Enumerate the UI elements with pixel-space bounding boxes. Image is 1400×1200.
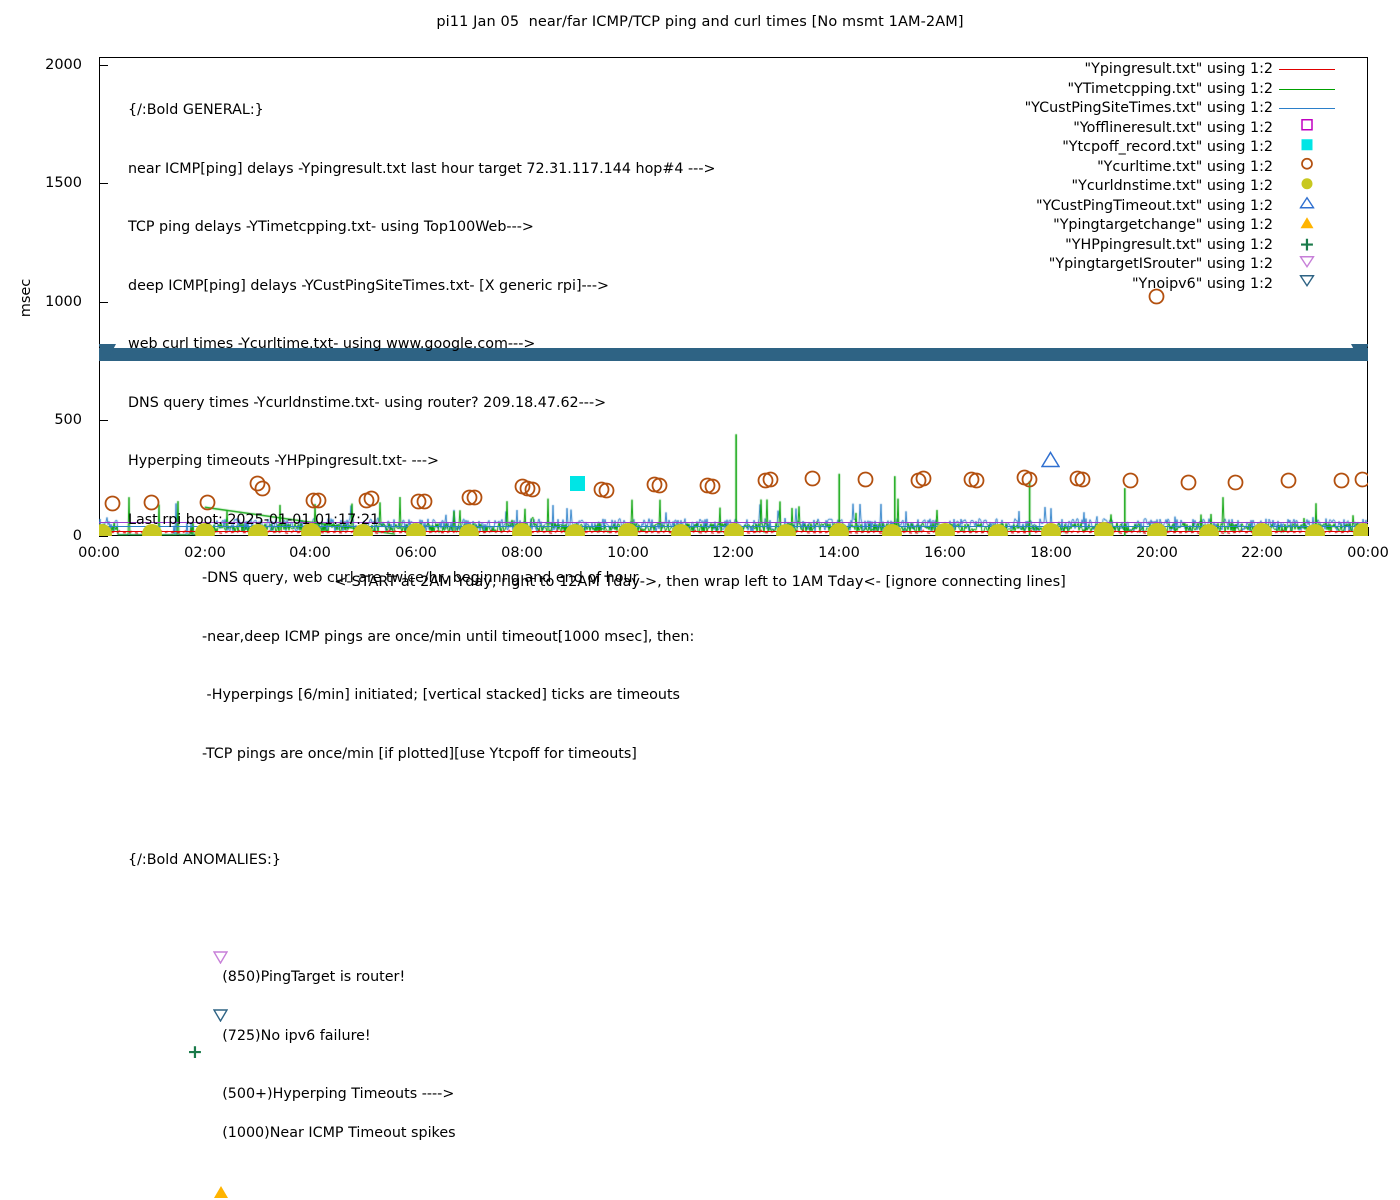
anomalies-header: {/:Bold ANOMALIES:} — [128, 851, 715, 871]
curl-time-point — [104, 495, 121, 516]
dns-time-point — [1198, 523, 1220, 536]
legend-row: "Yofflineresult.txt" using 1:2 — [985, 119, 1335, 139]
legend-row: "Ypingtargetchange" using 1:2 — [985, 216, 1335, 236]
legend-key-icon — [1279, 216, 1335, 236]
anomaly-row: (550)Ping Target Changes ---> — [128, 1163, 715, 1183]
legend-label: "Ycurltime.txt" using 1:2 — [1097, 158, 1273, 178]
legend-key-icon — [1279, 177, 1335, 197]
legend-label: "Ytcpoff_record.txt" using 1:2 — [1062, 138, 1273, 158]
dns-time-point — [775, 523, 797, 536]
curl-time-point — [1122, 472, 1139, 493]
curl-time-point — [1333, 472, 1350, 493]
curl-time-point — [762, 471, 779, 492]
dns-time-point — [1146, 522, 1168, 536]
legend-key-icon — [1279, 119, 1335, 139]
triangle-down-open-teal-icon — [186, 990, 201, 1005]
legend-key-icon — [1279, 275, 1335, 295]
legend-row: "YCustPingTimeout.txt" using 1:2 — [985, 197, 1335, 217]
legend-row: "YTimetcpping.txt" using 1:2 — [985, 80, 1335, 100]
anomaly-label: (1000)Near ICMP Timeout spikes — [222, 1125, 455, 1141]
legend-key-icon — [1279, 255, 1335, 275]
general-note: -DNS query, web curl are twice/hr, begin… — [128, 569, 715, 589]
general-note: -TCP pings are once/min [if plotted][use… — [128, 745, 715, 765]
curl-time-point — [915, 470, 932, 491]
y-tick-mark — [99, 536, 108, 537]
general-line: DNS query times -Ycurldnstime.txt- using… — [128, 394, 715, 414]
legend: "Ypingresult.txt" using 1:2"YTimetcpping… — [985, 60, 1335, 294]
dns-time-point — [881, 523, 903, 536]
general-header: {/:Bold GENERAL:} — [128, 101, 715, 121]
dns-time-point — [1251, 522, 1273, 536]
dns-time-point — [934, 522, 956, 536]
x-tick-label: 00:00 — [59, 545, 139, 561]
general-note: -Hyperpings [6/min] initiated; [vertical… — [128, 686, 715, 706]
anomaly-label: (500+)Hyperping Timeouts ----> — [222, 1086, 454, 1102]
legend-row: "Ycurldnstime.txt" using 1:2 — [985, 177, 1335, 197]
x-tick-label: 16:00 — [905, 545, 985, 561]
legend-key-icon — [1279, 138, 1335, 158]
curl-time-point — [1227, 474, 1244, 495]
legend-key-icon: + — [1279, 236, 1335, 256]
legend-key-icon — [1279, 60, 1335, 80]
legend-row: "Ypingresult.txt" using 1:2 — [985, 60, 1335, 80]
x-tick-label: 22:00 — [1222, 545, 1302, 561]
curl-time-point — [1021, 471, 1038, 492]
y-tick-label: 0 — [10, 528, 82, 544]
anomaly-row: (850)PingTarget is router! — [128, 929, 715, 949]
curl-time-point — [857, 471, 874, 492]
general-line: Hyperping timeouts -YHPpingresult.txt- -… — [128, 452, 715, 472]
legend-row: "YpingtargetISrouter" using 1:2 — [985, 255, 1335, 275]
x-tick-label: 20:00 — [1117, 545, 1197, 561]
triangle-up-fill-orange-icon — [186, 1165, 201, 1180]
anomaly-row: (725)No ipv6 failure! — [128, 988, 715, 1008]
general-note: -near,deep ICMP pings are once/min until… — [128, 628, 715, 648]
curl-time-point — [804, 470, 821, 491]
legend-key-icon — [1279, 197, 1335, 217]
legend-key-icon — [1279, 158, 1335, 178]
anomaly-row: + (500+)Hyperping Timeouts ----> — [128, 1046, 715, 1066]
x-tick-label: 18:00 — [1011, 545, 1091, 561]
legend-label: "Ypingtargetchange" using 1:2 — [1053, 216, 1273, 236]
dns-time-point — [723, 522, 745, 536]
anomaly-label: (725)No ipv6 failure! — [222, 1028, 370, 1044]
legend-row: "Ycurltime.txt" using 1:2 — [985, 158, 1335, 178]
legend-row: "Ynoipv6" using 1:2 — [985, 275, 1335, 295]
general-line: deep ICMP[ping] delays -YCustPingSiteTim… — [128, 277, 715, 297]
y-tick-label: 500 — [10, 412, 82, 428]
general-line: web curl times -Ycurltime.txt- using www… — [128, 335, 715, 355]
curl-time-point — [968, 472, 985, 493]
legend-label: "YTimetcpping.txt" using 1:2 — [1067, 80, 1273, 100]
dns-time-point — [99, 523, 113, 536]
legend-label: "YpingtargetISrouter" using 1:2 — [1049, 255, 1273, 275]
annotation-block: {/:Bold GENERAL:} near ICMP[ping] delays… — [128, 62, 715, 1200]
y-tick-label: 2000 — [10, 57, 82, 73]
legend-label: "Ynoipv6" using 1:2 — [1132, 275, 1273, 295]
general-line: Last rpi boot: 2025-01-01 01:17:21 — [128, 511, 715, 531]
curl-time-point — [1354, 471, 1368, 492]
legend-row: "Ytcpoff_record.txt" using 1:2 — [985, 138, 1335, 158]
legend-label: "Yofflineresult.txt" using 1:2 — [1073, 119, 1273, 139]
curl-time-point — [1074, 471, 1091, 492]
dns-time-point — [987, 523, 1009, 536]
anomaly-label: (850)PingTarget is router! — [222, 969, 405, 985]
plus-green-icon: + — [187, 1045, 202, 1060]
annotation-spacer — [128, 803, 715, 812]
dns-time-point — [1352, 522, 1368, 536]
legend-row: "YHPpingresult.txt" using 1:2+ — [985, 236, 1335, 256]
chart-title: pi11 Jan 05 near/far ICMP/TCP ping and c… — [0, 14, 1400, 30]
legend-key-icon — [1279, 80, 1335, 100]
dns-time-point — [1040, 522, 1062, 536]
y-tick-label: 1000 — [10, 294, 82, 310]
triangle-down-open-violet-icon — [186, 931, 201, 946]
legend-row: "YCustPingSiteTimes.txt" using 1:2 — [985, 99, 1335, 119]
general-line: near ICMP[ping] delays -Ypingresult.txt … — [128, 160, 715, 180]
legend-key-icon — [1279, 99, 1335, 119]
legend-label: "YCustPingTimeout.txt" using 1:2 — [1036, 197, 1273, 217]
x-tick-mark — [1368, 527, 1369, 536]
dns-time-point — [1093, 521, 1115, 536]
legend-label: "Ypingresult.txt" using 1:2 — [1085, 60, 1273, 80]
x-tick-label: 00:00 — [1328, 545, 1400, 561]
dns-time-point — [1304, 523, 1326, 536]
curl-time-point — [1180, 474, 1197, 495]
curl-time-point — [1280, 472, 1297, 493]
y-tick-label: 1500 — [10, 175, 82, 191]
general-line: TCP ping delays -YTimetcpping.txt- using… — [128, 218, 715, 238]
x-tick-label: 14:00 — [799, 545, 879, 561]
deep-icmp-timeout-point — [1041, 451, 1060, 472]
dns-time-point — [828, 522, 850, 536]
legend-label: "YHPpingresult.txt" using 1:2 — [1065, 236, 1273, 256]
legend-label: "Ycurldnstime.txt" using 1:2 — [1072, 177, 1273, 197]
anomaly-row: (1000)Near ICMP Timeout spikes — [128, 1105, 715, 1125]
legend-label: "YCustPingSiteTimes.txt" using 1:2 — [1025, 99, 1273, 119]
